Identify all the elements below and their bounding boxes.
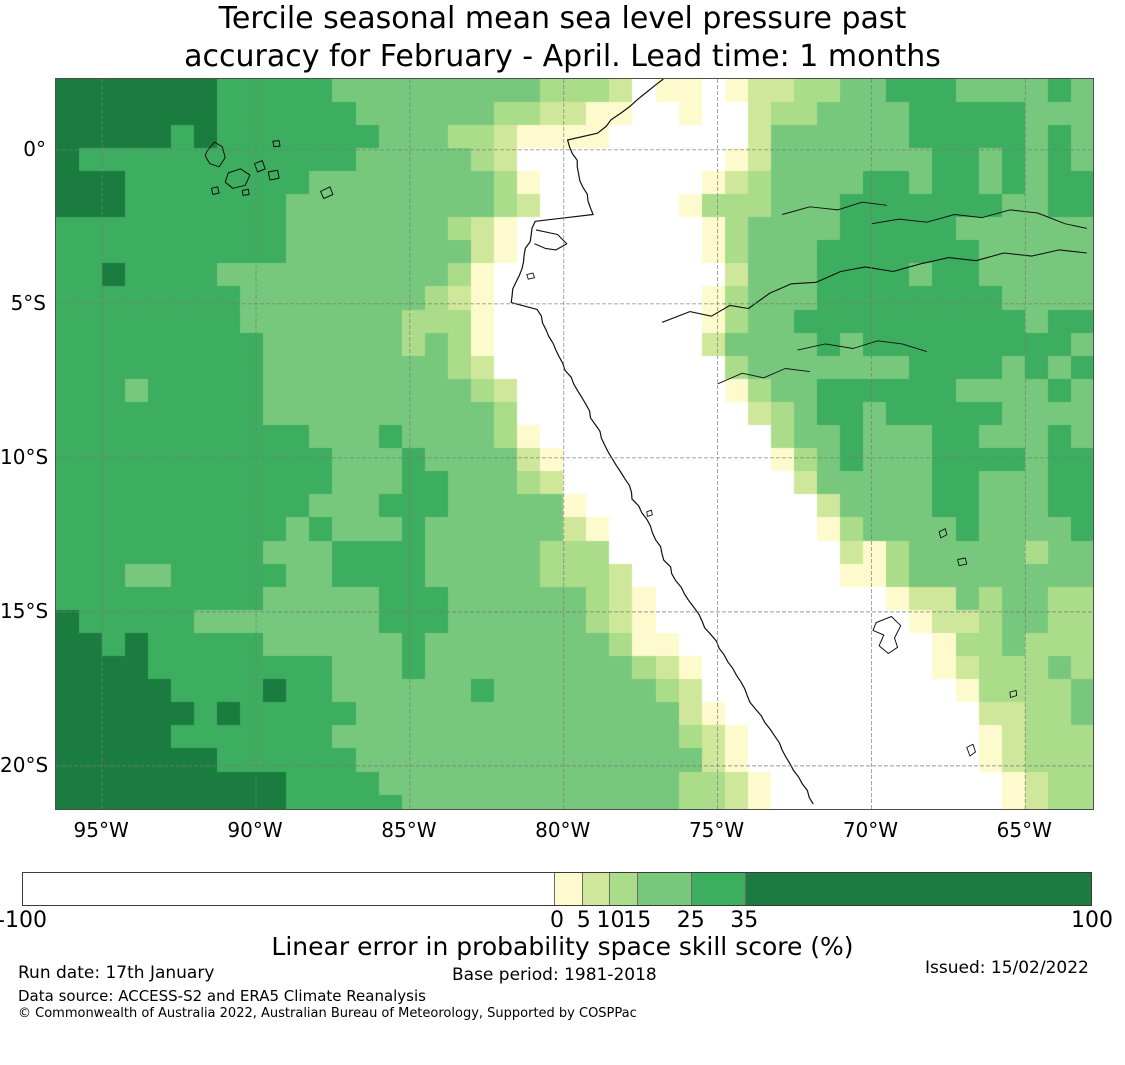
data-source: Data source: ACCESS-S2 and ERA5 Climate …: [18, 987, 426, 1005]
page-title: Tercile seasonal mean sea level pressure…: [0, 0, 1125, 76]
latitude-tick-label: 5°S: [0, 291, 46, 315]
longitude-tick-label: 95°W: [74, 818, 129, 842]
colorbar-tick-label: 10: [597, 908, 625, 933]
colorbar-segment: [583, 873, 611, 905]
latitude-tick-label: 10°S: [0, 445, 46, 469]
colorbar-tick-label: 25: [677, 908, 705, 933]
colorbar-tick-label: 100: [1071, 908, 1113, 933]
latitude-tick-label: 0°: [0, 137, 46, 161]
issued-date: Issued: 15/02/2022: [925, 958, 1089, 978]
latitude-tick-label: 20°S: [0, 753, 46, 777]
colorbar-segment: [610, 873, 638, 905]
run-date: Run date: 17th January: [18, 963, 214, 983]
longitude-tick-label: 90°W: [227, 818, 282, 842]
longitude-tick-label: 70°W: [843, 818, 898, 842]
colorbar-tick-label: 5: [577, 908, 591, 933]
colorbar-tick-label: 35: [730, 908, 758, 933]
colorbar-label: Linear error in probability space skill …: [0, 932, 1125, 961]
colorbar-tick-label: 0: [550, 908, 564, 933]
colorbar-segment: [692, 873, 746, 905]
longitude-tick-label: 80°W: [535, 818, 590, 842]
colorbar-segment: [23, 873, 555, 905]
title-line-2: accuracy for February - April. Lead time…: [0, 38, 1125, 76]
longitude-tick-label: 75°W: [689, 818, 744, 842]
graticule-gridlines: [56, 79, 1093, 809]
latitude-tick-label: 15°S: [0, 599, 46, 623]
longitude-tick-label: 85°W: [381, 818, 436, 842]
base-period: Base period: 1981-2018: [452, 965, 657, 985]
colorbar-segment: [746, 873, 1091, 905]
colorbar-segment: [555, 873, 583, 905]
colorbar-tick-label: -100: [0, 908, 47, 933]
copyright-notice: © Commonwealth of Australia 2022, Austra…: [18, 1006, 637, 1021]
title-line-1: Tercile seasonal mean sea level pressure…: [0, 0, 1125, 38]
longitude-tick-label: 65°W: [997, 818, 1052, 842]
colorbar-segment: [638, 873, 692, 905]
skill-score-map[interactable]: [55, 78, 1094, 810]
colorbar-tick-label: 15: [623, 908, 651, 933]
colorbar[interactable]: [22, 872, 1092, 906]
